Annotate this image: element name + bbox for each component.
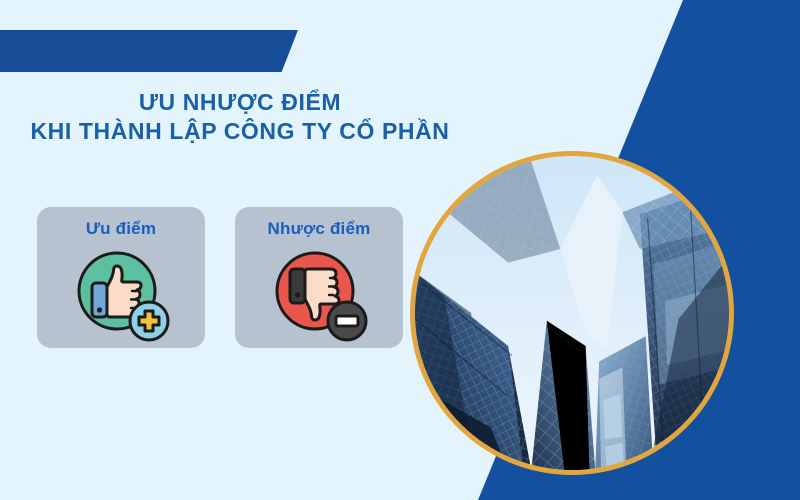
card-cons-title: Nhược điểm — [235, 219, 403, 239]
skyscrapers-looking-up-photo — [415, 156, 729, 470]
infographic-canvas: ƯU NHƯỢC ĐIỂM KHI THÀNH LẬP CÔNG TY CỔ P… — [0, 0, 800, 500]
top-left-banner — [0, 30, 298, 72]
page-title-line-1: ƯU NHƯỢC ĐIỂM — [0, 88, 480, 117]
card-pros-title: Ưu điểm — [37, 219, 205, 239]
card-cons[interactable]: Nhược điểm — [235, 207, 403, 348]
card-pros[interactable]: Ưu điểm — [37, 207, 205, 348]
thumbs-down-icon — [267, 247, 371, 343]
page-title-line-2: KHI THÀNH LẬP CÔNG TY CỔ PHẦN — [0, 117, 480, 146]
thumbs-up-icon — [69, 247, 173, 343]
plus-badge-icon — [130, 302, 168, 340]
skyscrapers-photo-circle — [410, 151, 734, 475]
minus-badge-icon — [328, 302, 366, 340]
page-title: ƯU NHƯỢC ĐIỂM KHI THÀNH LẬP CÔNG TY CỔ P… — [0, 88, 480, 147]
